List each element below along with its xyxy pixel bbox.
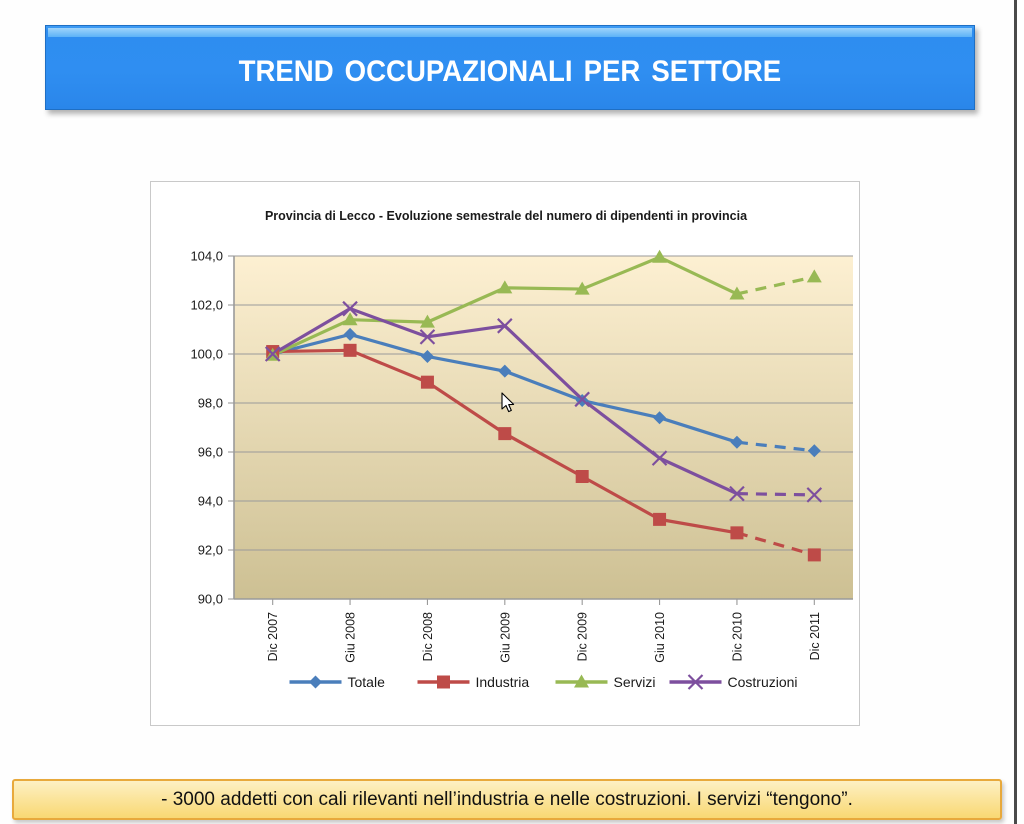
slide-title-banner: TREND OCCUPAZIONALI PER SETTORE (45, 25, 975, 110)
legend-item-costruzioni: Costruzioni (728, 674, 798, 690)
page-title: TREND OCCUPAZIONALI PER SETTORE (239, 43, 782, 92)
y-axis-tick-label: 104,0 (190, 249, 223, 264)
x-axis-tick-label: Giu 2008 (344, 612, 358, 663)
x-axis-tick-label: Dic 2010 (730, 612, 744, 661)
y-axis-tick-label: 102,0 (190, 298, 223, 313)
legend-item-totale: Totale (348, 674, 386, 690)
y-axis-tick-label: 98,0 (198, 396, 223, 411)
chart-container: Provincia di Lecco - Evoluzione semestra… (150, 181, 860, 726)
y-axis-tick-label: 92,0 (198, 543, 223, 558)
y-axis-tick-label: 96,0 (198, 445, 223, 460)
caption-text: - 3000 addetti con cali rilevanti nell’i… (161, 789, 853, 811)
y-axis-tick-label: 100,0 (190, 347, 223, 362)
x-axis-tick-label: Giu 2009 (498, 612, 512, 663)
caption-box: - 3000 addetti con cali rilevanti nell’i… (12, 779, 1002, 820)
legend-item-industria: Industria (476, 674, 530, 690)
x-axis-tick-label: Dic 2008 (421, 612, 435, 661)
window-right-edge (1014, 0, 1024, 824)
y-axis-tick-label: 94,0 (198, 494, 223, 509)
x-axis-tick-label: Dic 2007 (266, 612, 280, 661)
x-axis-tick-label: Dic 2011 (808, 612, 822, 660)
legend-item-servizi: Servizi (614, 674, 656, 690)
line-chart: 90,092,094,096,098,0100,0102,0104,0Dic 2… (151, 182, 861, 727)
y-axis-tick-label: 90,0 (198, 592, 223, 607)
x-axis-tick-label: Giu 2010 (653, 612, 667, 663)
x-axis-tick-label: Dic 2009 (576, 612, 590, 661)
slide-canvas: TREND OCCUPAZIONALI PER SETTORE Provinci… (0, 0, 1014, 824)
